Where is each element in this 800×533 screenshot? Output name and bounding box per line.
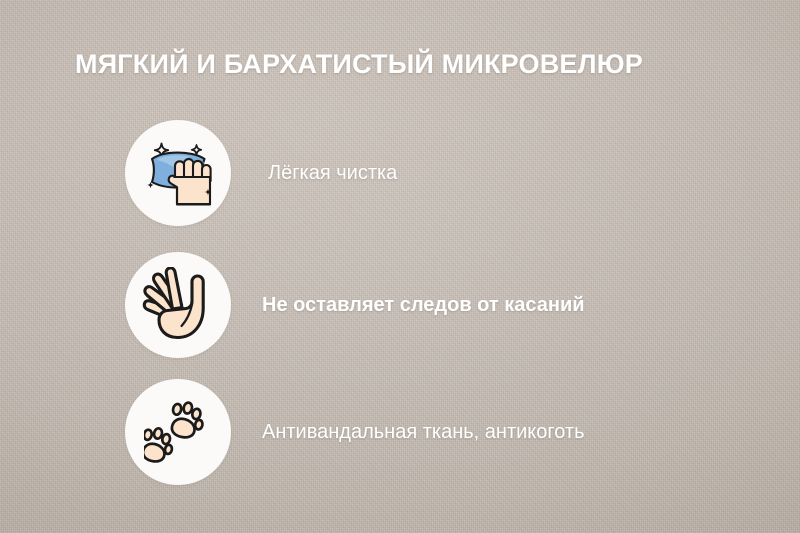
feature-icon-badge [125, 120, 231, 226]
paw-prints-icon [144, 398, 212, 466]
feature-icon-badge [125, 252, 231, 358]
feature-row: Не оставляет следов от касаний [0, 252, 585, 358]
feature-label: Лёгкая чистка [268, 160, 397, 186]
feature-label: Не оставляет следов от касаний [262, 292, 585, 318]
feature-row: Лёгкая чистка [0, 120, 397, 226]
page-title: МЯГКИЙ И БАРХАТИСТЫЙ МИКРОВЕЛЮР [75, 48, 643, 80]
feature-icon-badge [125, 379, 231, 485]
open-palm-hand-icon [142, 267, 214, 343]
feature-row: Антивандальная ткань, антикоготь [0, 379, 585, 485]
slide-canvas: МЯГКИЙ И БАРХАТИСТЫЙ МИКРОВЕЛЮР [0, 0, 800, 533]
feature-label: Антивандальная ткань, антикоготь [262, 419, 585, 445]
cloth-wipe-hand-icon [139, 134, 217, 212]
